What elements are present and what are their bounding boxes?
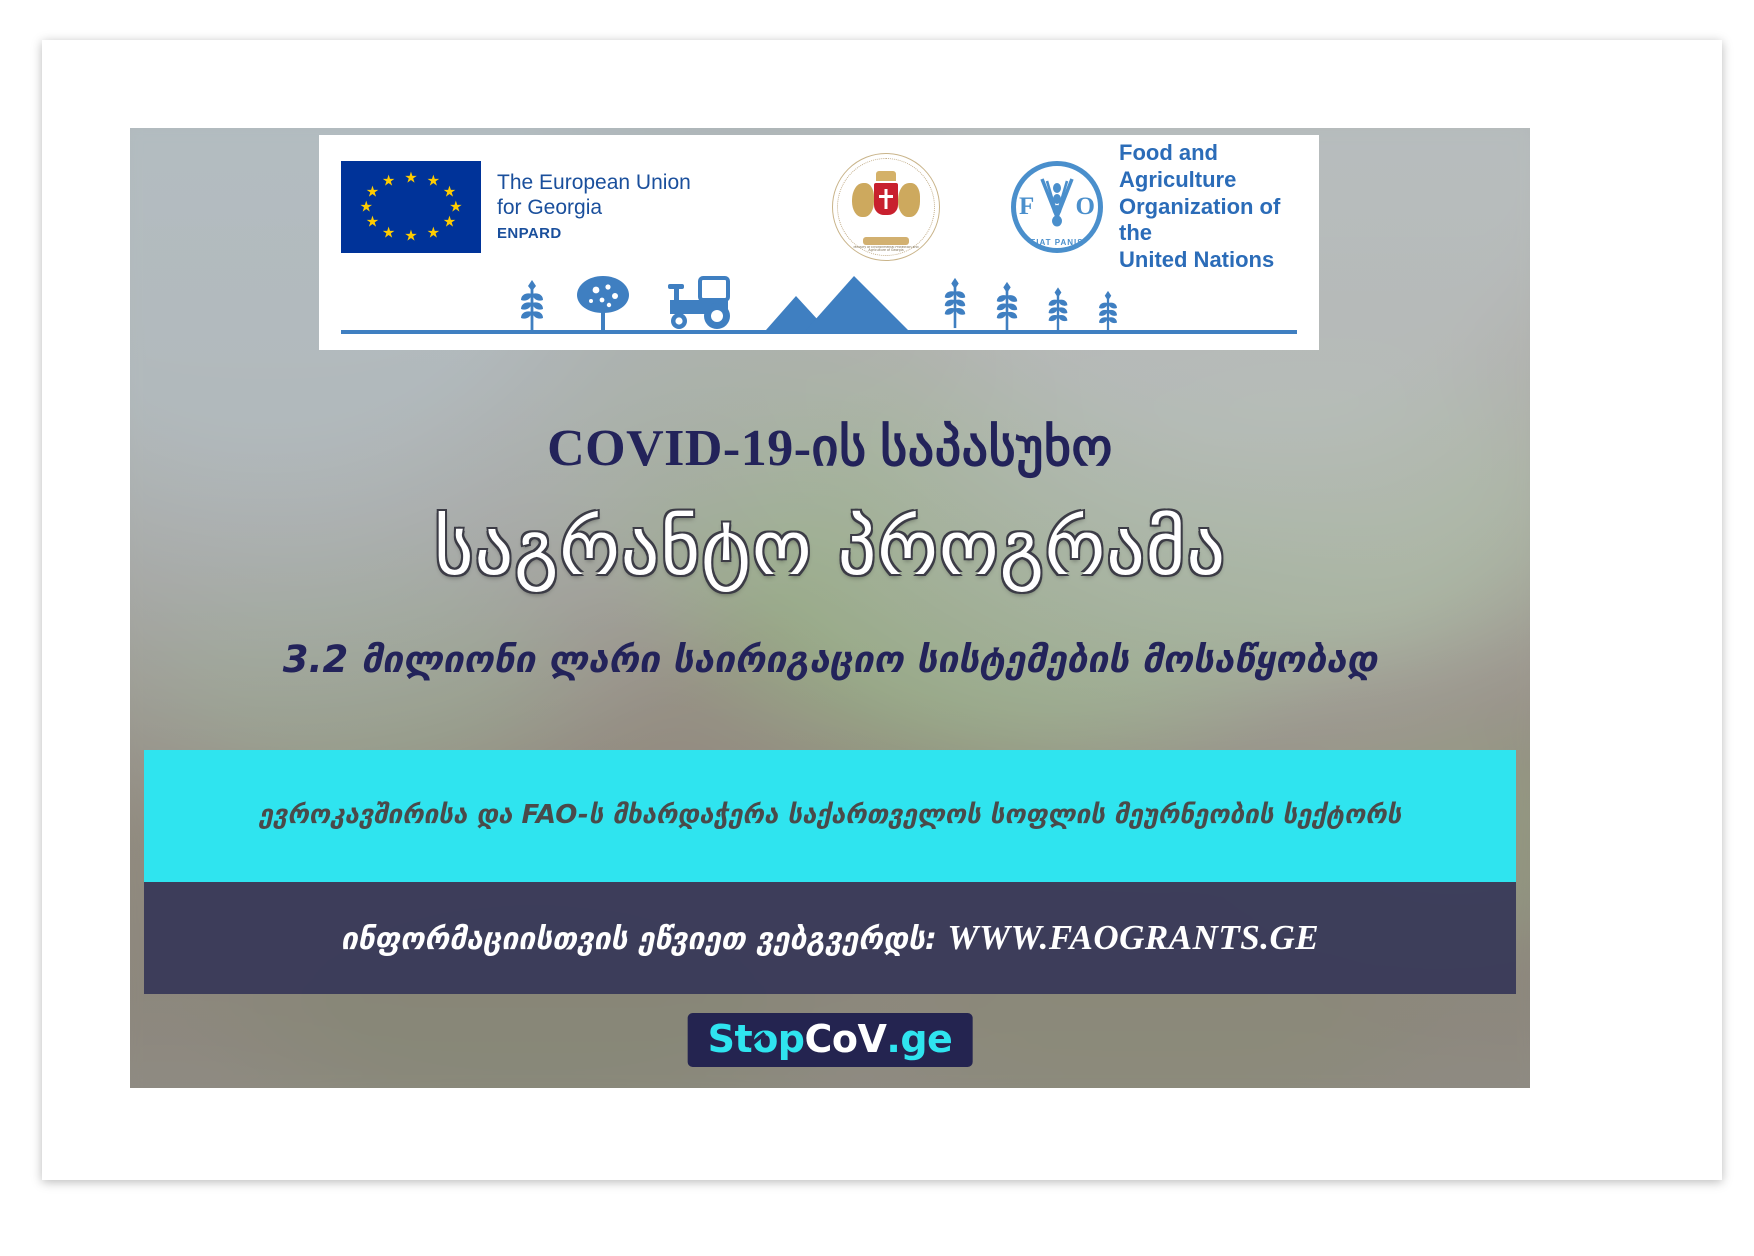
website-url[interactable]: WWW.FAOGRANTS.GE	[947, 918, 1319, 957]
cyan-band-text: ევროკავშირისა და FAO-ს მხარდაჭერა საქართ…	[259, 799, 1402, 833]
poster-title: საგრანტო პროგრამა	[130, 503, 1530, 592]
stopcov-part2: CoV	[805, 1020, 887, 1058]
poster-amount-line: 3.2 მილიონი ლარი საირიგაციო სისტემების მ…	[130, 638, 1530, 681]
navy-band-text: ინფორმაციისთვის ეწვიეთ ვებგვერდს: WWW.FA…	[341, 918, 1319, 958]
poster-text-layer: COVID-19-ის საპასუხო საგრანტო პროგრამა 3…	[130, 128, 1530, 1088]
stopcov-badge[interactable]: Stop CoV .ge	[688, 1013, 973, 1067]
stopcov-stop-text: Stop	[708, 1020, 805, 1058]
navy-website-band: ინფორმაციისთვის ეწვიეთ ვებგვერდს: WWW.FA…	[144, 882, 1516, 994]
stopcov-part3: .ge	[886, 1020, 952, 1058]
cyan-message-band: ევროკავშირისა და FAO-ს მხარდაჭერა საქართ…	[144, 750, 1516, 882]
poster-page: ★ ★ ★ ★ ★ ★ ★ ★ ★ ★ ★ ★	[0, 0, 1754, 1256]
poster-eyebrow: COVID-19-ის საპასუხო	[130, 418, 1530, 478]
background-photo: ★ ★ ★ ★ ★ ★ ★ ★ ★ ★ ★ ★	[130, 128, 1530, 1088]
website-prompt: ინფორმაციისთვის ეწვიეთ ვებგვერდს:	[341, 922, 937, 957]
slide: ★ ★ ★ ★ ★ ★ ★ ★ ★ ★ ★ ★	[48, 45, 1716, 1175]
